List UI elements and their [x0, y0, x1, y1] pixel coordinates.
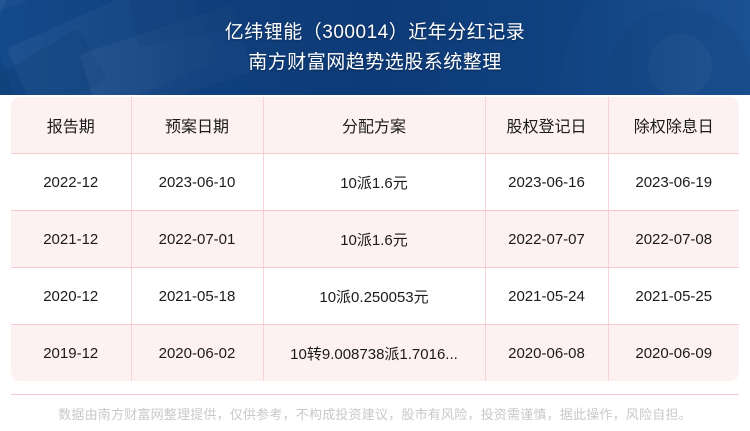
- cell-record-date: 2023-06-16: [485, 154, 608, 211]
- column-header-plan-date: 预案日期: [131, 97, 263, 154]
- dividend-table-container: 报告期 预案日期 分配方案 股权登记日 除权除息日 2022-12 2023-0…: [11, 97, 739, 381]
- cell-distribution: 10派0.250053元: [263, 268, 485, 325]
- cell-ex-dividend-date: 2023-06-19: [608, 154, 739, 211]
- page-banner: 亿纬锂能（300014）近年分红记录 南方财富网趋势选股系统整理: [0, 0, 750, 95]
- cell-report-period: 2022-12: [11, 154, 131, 211]
- table-header-row: 报告期 预案日期 分配方案 股权登记日 除权除息日: [11, 97, 739, 154]
- column-header-report-period: 报告期: [11, 97, 131, 154]
- cell-distribution: 10派1.6元: [263, 154, 485, 211]
- disclaimer-text: 数据由南方财富网整理提供，仅供参考，不构成投资建议，股市有风险，投资需谨慎，据此…: [58, 404, 692, 423]
- table-body: 2022-12 2023-06-10 10派1.6元 2023-06-16 20…: [11, 154, 739, 382]
- dividend-table: 报告期 预案日期 分配方案 股权登记日 除权除息日 2022-12 2023-0…: [11, 97, 739, 381]
- cell-ex-dividend-date: 2020-06-09: [608, 325, 739, 382]
- footer: 数据由南方财富网整理提供，仅供参考，不构成投资建议，股市有风险，投资需谨慎，据此…: [11, 394, 739, 431]
- cell-plan-date: 2021-05-18: [131, 268, 263, 325]
- page-subtitle: 南方财富网趋势选股系统整理: [248, 51, 502, 75]
- cell-record-date: 2022-07-07: [485, 211, 608, 268]
- table-header: 报告期 预案日期 分配方案 股权登记日 除权除息日: [11, 97, 739, 154]
- cell-distribution: 10派1.6元: [263, 211, 485, 268]
- table-row: 2019-12 2020-06-02 10转9.008738派1.7016...…: [11, 325, 739, 382]
- cell-report-period: 2021-12: [11, 211, 131, 268]
- table-row: 2022-12 2023-06-10 10派1.6元 2023-06-16 20…: [11, 154, 739, 211]
- cell-plan-date: 2022-07-01: [131, 211, 263, 268]
- dividend-record-page: 亿纬锂能（300014）近年分红记录 南方财富网趋势选股系统整理 南方财富网 s…: [0, 0, 750, 431]
- cell-record-date: 2021-05-24: [485, 268, 608, 325]
- cell-record-date: 2020-06-08: [485, 325, 608, 382]
- column-header-ex-dividend-date: 除权除息日: [608, 97, 739, 154]
- cell-plan-date: 2023-06-10: [131, 154, 263, 211]
- cell-ex-dividend-date: 2021-05-25: [608, 268, 739, 325]
- cell-report-period: 2019-12: [11, 325, 131, 382]
- cell-report-period: 2020-12: [11, 268, 131, 325]
- cell-ex-dividend-date: 2022-07-08: [608, 211, 739, 268]
- cell-plan-date: 2020-06-02: [131, 325, 263, 382]
- column-header-record-date: 股权登记日: [485, 97, 608, 154]
- page-title: 亿纬锂能（300014）近年分红记录: [225, 21, 525, 45]
- cell-distribution: 10转9.008738派1.7016...: [263, 325, 485, 382]
- banner-title-block: 亿纬锂能（300014）近年分红记录 南方财富网趋势选股系统整理: [0, 0, 750, 95]
- table-row: 2021-12 2022-07-01 10派1.6元 2022-07-07 20…: [11, 211, 739, 268]
- column-header-distribution: 分配方案: [263, 97, 485, 154]
- table-row: 2020-12 2021-05-18 10派0.250053元 2021-05-…: [11, 268, 739, 325]
